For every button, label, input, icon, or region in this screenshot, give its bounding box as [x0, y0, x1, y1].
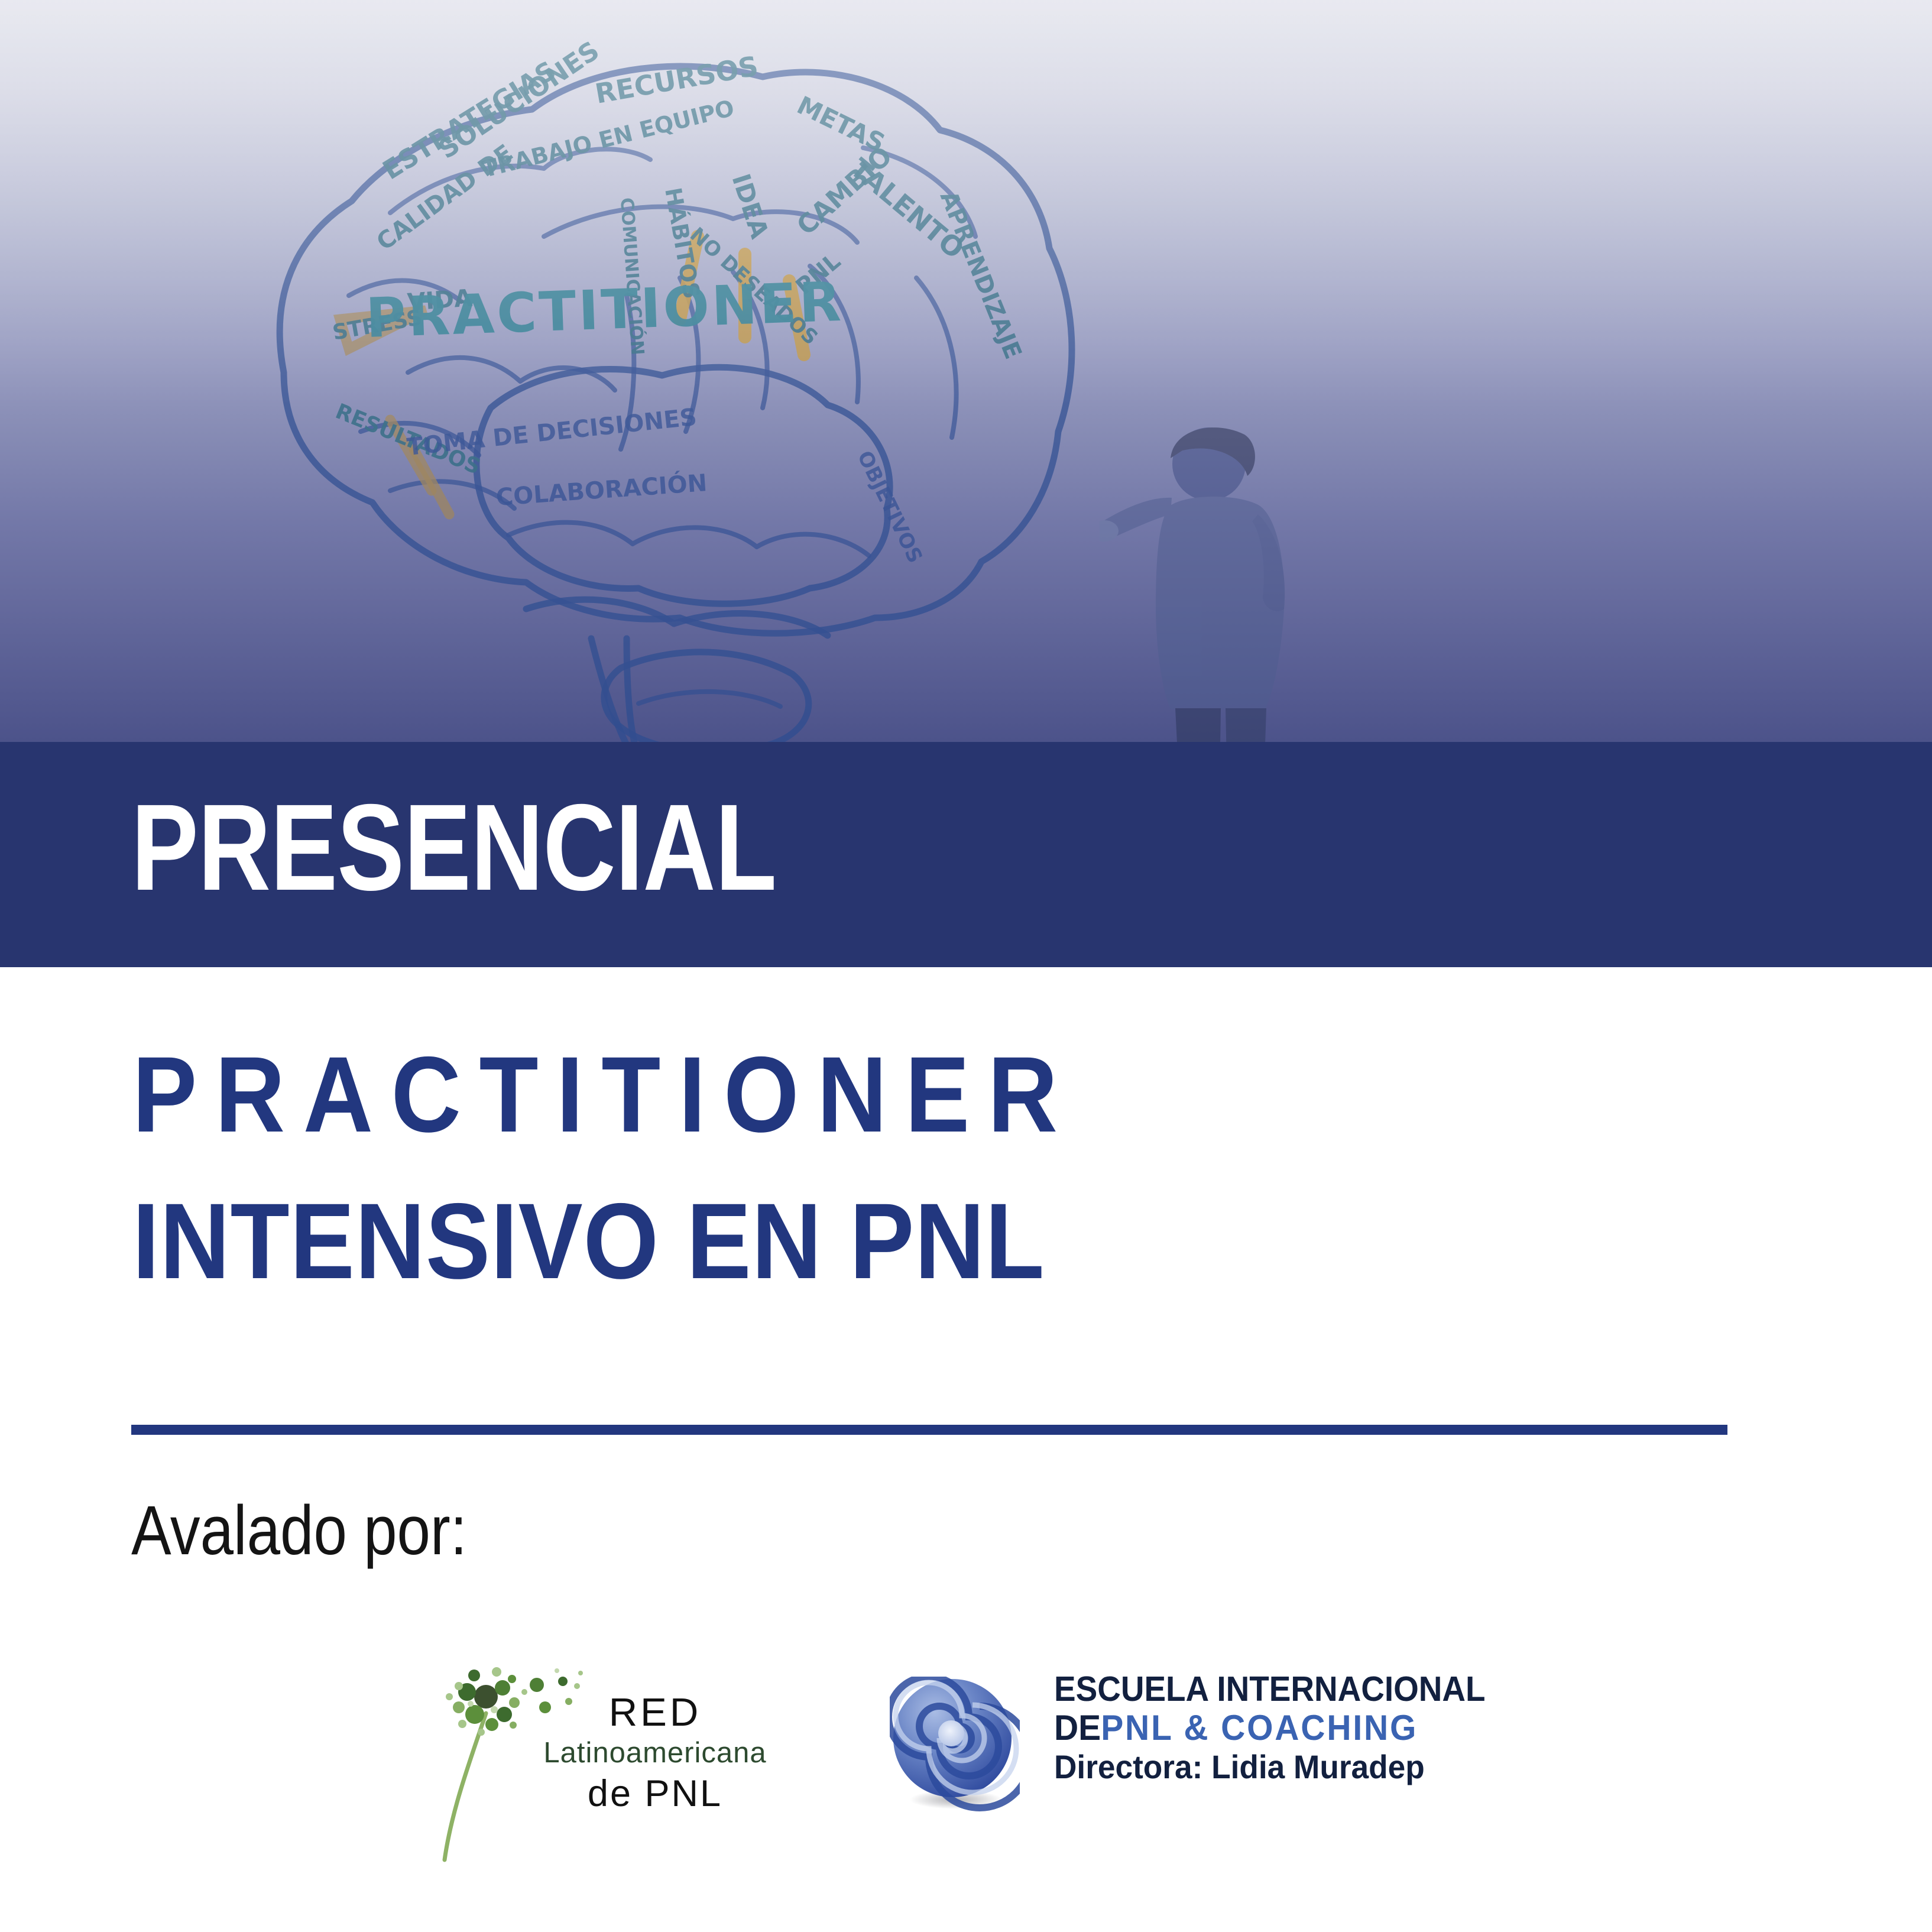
svg-text:TOMA DE DECISIONES: TOMA DE DECISIONES: [406, 404, 698, 461]
svg-text:COLABORACIÓN: COLABORACIÓN: [495, 468, 708, 511]
escuela-line2: DEPNL & COACHING: [1054, 1709, 1447, 1746]
course-title-line2: INTENSIVO EN PNL: [132, 1187, 1045, 1295]
svg-text:RECURSOS: RECURSOS: [593, 50, 761, 110]
escuela-line1: ESCUELA INTERNACIONAL: [1054, 1672, 1439, 1707]
escuela-wordmark: ESCUELA INTERNACIONAL DEPNL & COACHING D…: [1054, 1672, 1468, 1785]
horizontal-divider: [131, 1425, 1727, 1435]
poster-canvas: .ink{fill:none;stroke:#2c4c91;stroke-wid…: [0, 0, 1932, 1932]
presencial-label: PRESENCIAL: [131, 786, 776, 909]
course-title-line1: PRACTITIONER: [132, 1040, 1076, 1148]
red-wordmark: RED Latinoamericana de PNL: [537, 1691, 773, 1817]
spiral-sphere-icon: [890, 1677, 1020, 1813]
brain-illustration: .ink{fill:none;stroke:#2c4c91;stroke-wid…: [213, 41, 1171, 763]
escuela-line3: Directora: Lidia Muradep: [1054, 1750, 1447, 1785]
escuela-line2-prefix: DE: [1054, 1708, 1101, 1748]
logo-red-latinoamericana[interactable]: RED Latinoamericana de PNL: [408, 1655, 774, 1892]
logo-escuela-internacional[interactable]: ESCUELA INTERNACIONAL DEPNL & COACHING D…: [890, 1672, 1475, 1849]
endorsed-by-label: Avalado por:: [131, 1496, 467, 1565]
svg-text:IDEA: IDEA: [726, 170, 774, 242]
red-line3: de PNL: [537, 1772, 773, 1817]
endorser-logos: RED Latinoamericana de PNL: [408, 1655, 1472, 1892]
red-line1: RED: [537, 1691, 773, 1735]
red-line2: Latinoamericana: [537, 1735, 773, 1772]
svg-text:PRACTITIONER: PRACTITIONER: [365, 270, 844, 350]
escuela-line2-accent: PNL & COACHING: [1101, 1708, 1418, 1748]
